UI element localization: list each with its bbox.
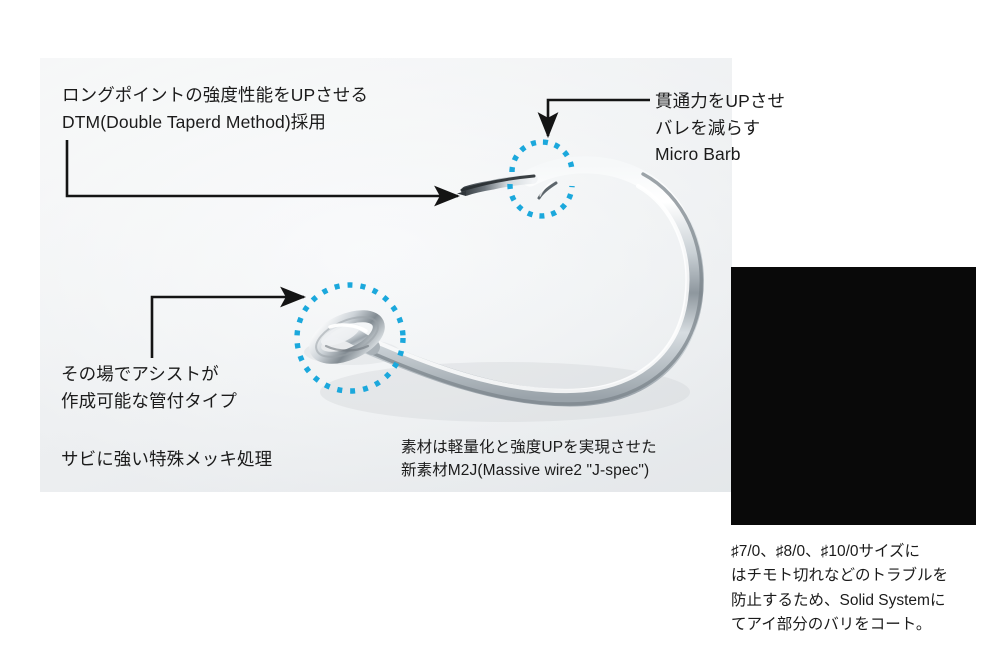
product-spec-illustration: ロングポイントの強度性能をUPさせる DTM(Double Taperd Met… <box>0 0 1000 667</box>
hook-eye-macro-inset <box>731 267 976 525</box>
callout-micro-barb: 貫通力をUPさせ バレを減らす Micro Barb <box>655 88 785 168</box>
inset-caption: ♯7/0、♯8/0、♯10/0サイズに はチモト切れなどのトラブルを 防止するた… <box>731 540 993 638</box>
callout-ring-eye: その場でアシストが 作成可能な管付タイプ <box>61 361 237 414</box>
callout-plating: サビに強い特殊メッキ処理 <box>61 446 272 473</box>
callout-long-point: ロングポイントの強度性能をUPさせる DTM(Double Taperd Met… <box>62 82 368 135</box>
callout-material: 素材は軽量化と強度UPを実現させた 新素材M2J(Massive wire2 "… <box>401 436 657 483</box>
